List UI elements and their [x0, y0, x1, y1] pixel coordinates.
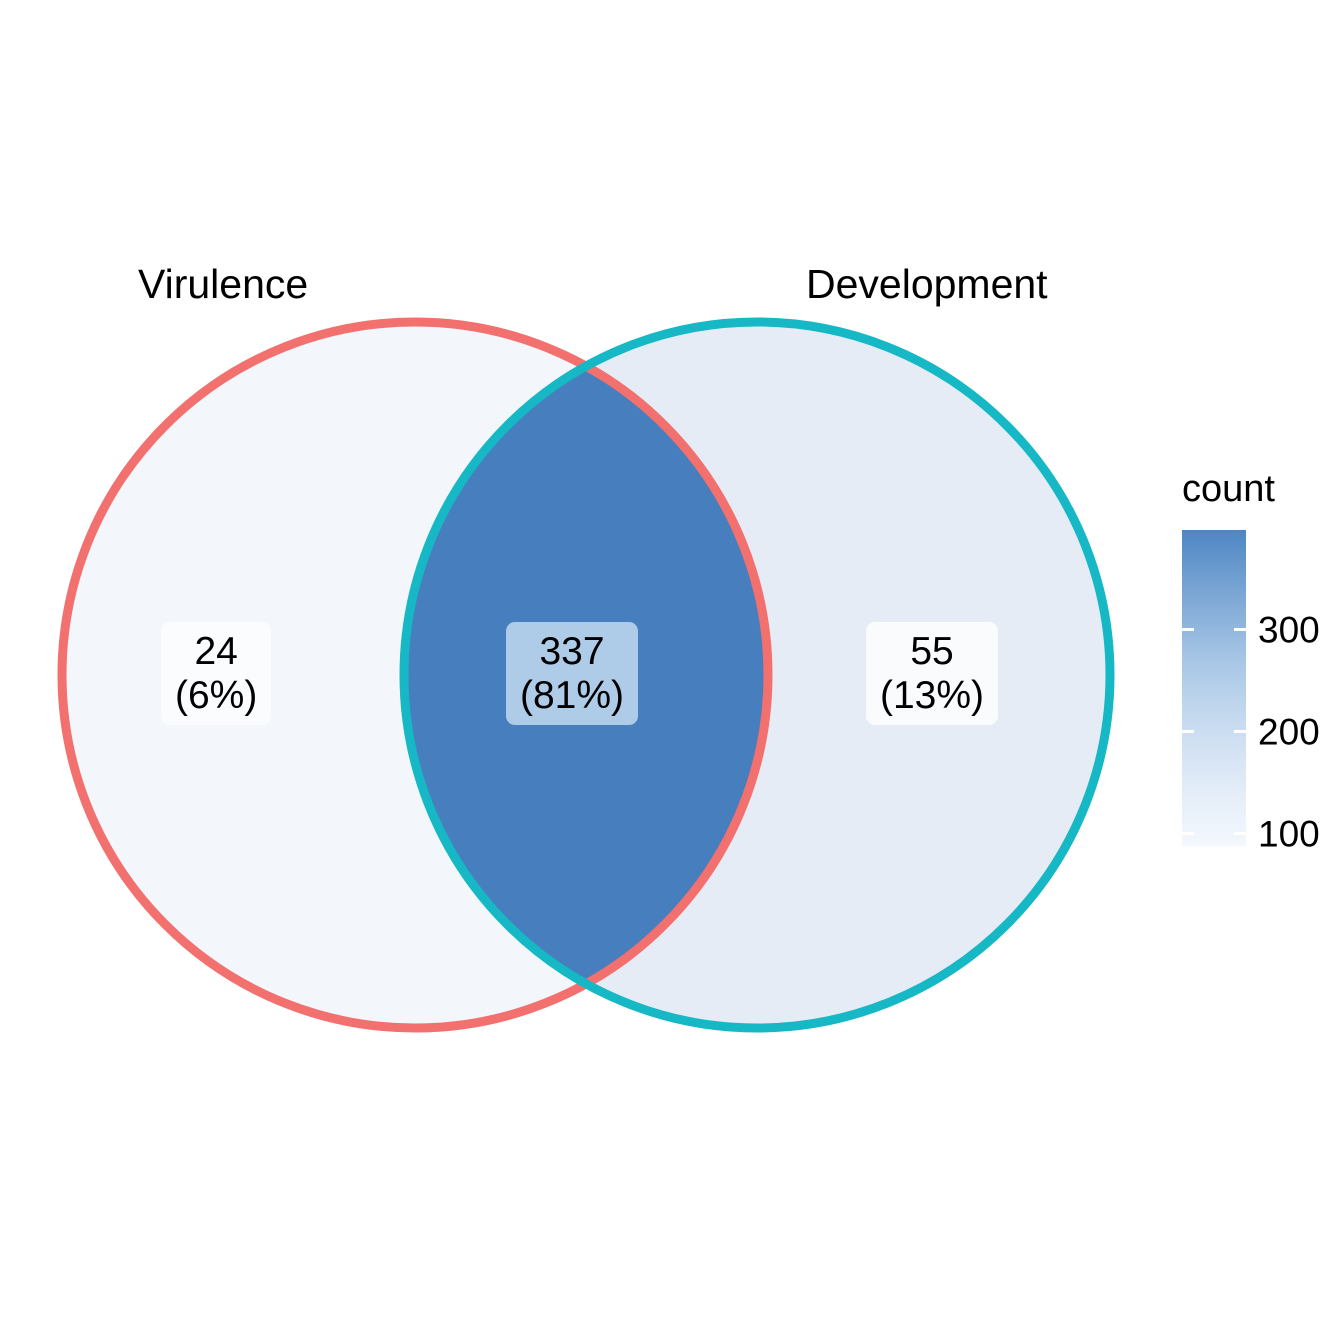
region-label-intersection: 337 (81%)	[506, 622, 638, 725]
region-count-left-only: 24	[194, 630, 237, 674]
legend-gradient-bar	[1182, 530, 1246, 846]
legend-colorbar: count 300 200 100	[1178, 470, 1320, 870]
region-label-right-only: 55 (13%)	[866, 622, 998, 725]
venn-diagram-figure: Virulence Development 24 (6%) 337 (81%) …	[0, 0, 1320, 1320]
set-title-development: Development	[806, 264, 1048, 305]
region-count-right-only: 55	[910, 630, 953, 674]
region-percent-intersection: (81%)	[520, 674, 624, 718]
legend-tick-mark-300-right	[1234, 628, 1246, 631]
legend-tick-label-200: 200	[1258, 714, 1320, 751]
region-percent-right-only: (13%)	[880, 674, 984, 718]
legend-tick-mark-100-left	[1182, 832, 1194, 835]
legend-tick-mark-200-right	[1234, 730, 1246, 733]
region-count-intersection: 337	[539, 630, 604, 674]
region-percent-left-only: (6%)	[175, 674, 257, 718]
legend-title: count	[1182, 470, 1275, 508]
legend-tick-mark-300-left	[1182, 628, 1194, 631]
legend-tick-label-100: 100	[1258, 816, 1320, 853]
set-title-virulence: Virulence	[138, 264, 308, 305]
legend-tick-mark-200-left	[1182, 730, 1194, 733]
legend-tick-mark-100-right	[1234, 832, 1246, 835]
region-label-left-only: 24 (6%)	[161, 622, 271, 725]
legend-tick-label-300: 300	[1258, 612, 1320, 649]
